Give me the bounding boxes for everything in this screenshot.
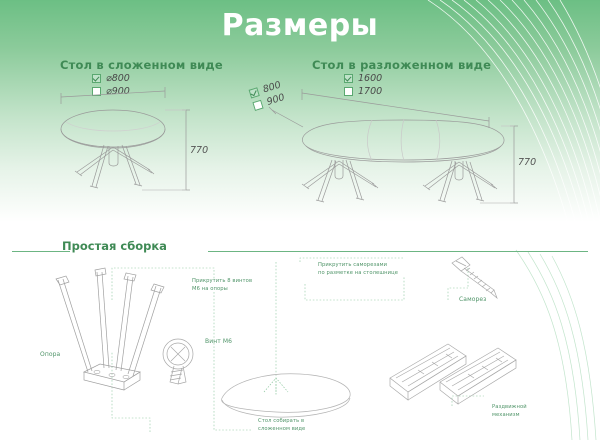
assembly-diagram	[0, 0, 600, 440]
annotation-assemble-folded: Стол собирать в сложенном виде	[258, 418, 305, 434]
annotation-self-tapping-screw: Саморез	[459, 295, 486, 304]
annotation-sliding-mechanism: Раздвижной механизм	[492, 404, 527, 420]
sliding-mechanism-icon	[390, 344, 516, 404]
bolt-m6-icon	[163, 339, 193, 384]
annotation-line-2: М6 на опоры	[192, 286, 252, 294]
annotation-screw-supports: Прикрутить 8 винтов М6 на опоры	[192, 278, 252, 294]
annotation-bolt-m6: Винт М6	[205, 337, 232, 346]
annotation-line-2: по разметке на столешнице	[318, 270, 398, 278]
annotation-support: Опора	[40, 350, 60, 359]
self-tapping-screw-icon	[452, 257, 497, 298]
annotation-line-2: сложенном виде	[258, 426, 305, 434]
annotation-line-1: Раздвижной	[492, 404, 527, 412]
annotation-line-1: Прикрутить 8 винтов	[192, 278, 252, 286]
annotation-line-2: механизм	[492, 412, 527, 420]
annotation-screw-tabletop: Прикрутить саморезами по разметке на сто…	[318, 262, 398, 278]
annotation-line-1: Прикрутить саморезами	[318, 262, 398, 270]
annotation-line-1: Стол собирать в	[258, 418, 305, 426]
infographic-page: Размеры Стол в сложенном виде ⌀800 ⌀900	[0, 0, 600, 440]
